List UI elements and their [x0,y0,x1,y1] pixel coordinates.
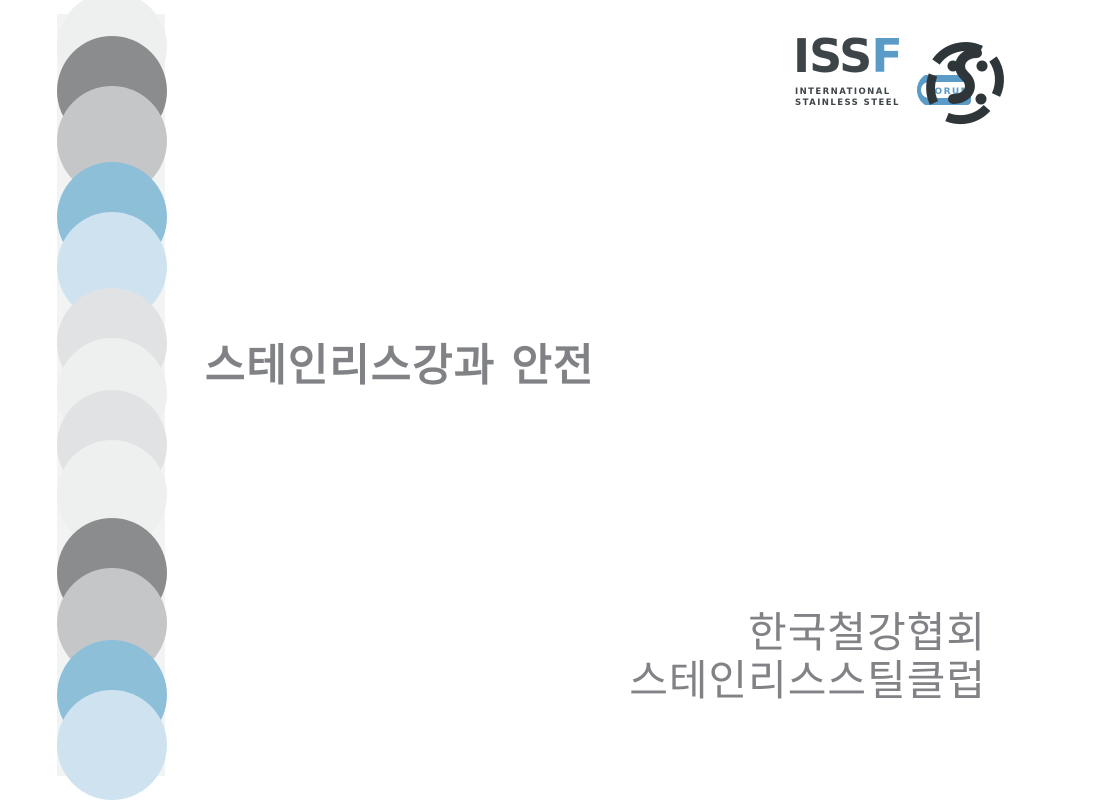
issf-wordmark: ISSF [793,33,902,79]
page-title: 스테인리스강과 안전 [205,338,595,394]
affiliation-line-2: 스테인리스스틸클럽 [466,657,986,705]
issf-emblem-icon: FORUM [889,29,1005,133]
affiliation-block: 한국철강협회 스테인리스스틸클럽 [466,609,986,705]
issf-subtitle: INTERNATIONAL STAINLESS STEEL [795,87,900,109]
decorative-circle-column [57,14,165,776]
slide-canvas: ISSF INTERNATIONAL STAINLESS STEEL FORUM… [0,0,1096,803]
issf-wordmark-iss: ISS [793,29,871,83]
decorative-circle-13 [57,690,167,800]
issf-logo: ISSF INTERNATIONAL STAINLESS STEEL FORUM [793,33,1005,133]
affiliation-line-1: 한국철강협회 [466,609,986,657]
